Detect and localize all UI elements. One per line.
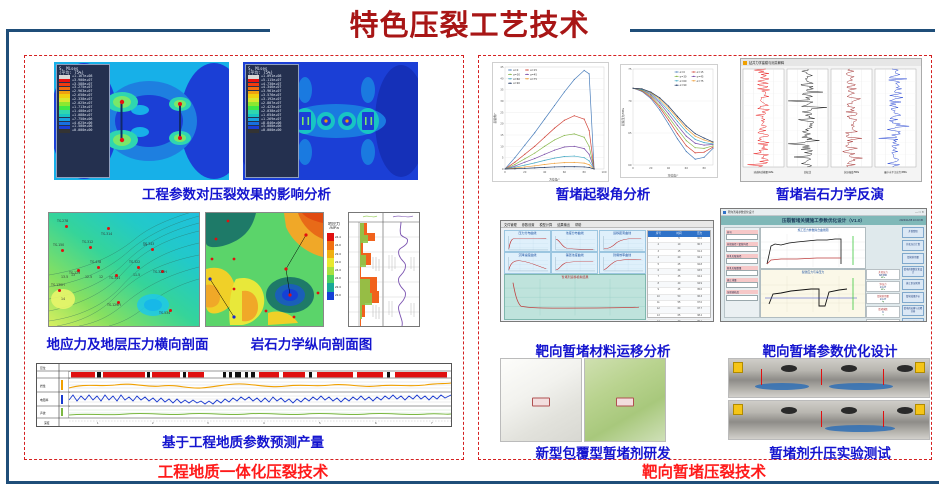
banner-timestamp: 2023/11/08 10:23:45	[899, 219, 923, 222]
field-input[interactable]	[726, 234, 758, 240]
table-cell: 69.1	[689, 320, 710, 322]
page-header: 特色压裂工艺技术	[0, 0, 939, 52]
well-label: TS-150	[53, 243, 64, 247]
photo-pipe-test-bottom	[728, 400, 930, 440]
field-input[interactable]	[726, 295, 758, 301]
svg-text:声波: 声波	[40, 411, 46, 415]
svg-text:α=60: α=60	[680, 79, 687, 83]
mini-plot: 运移距离曲线	[599, 230, 646, 252]
legend-colorbar	[327, 233, 334, 300]
table-body: 1560.021060.731561.442062.152562.863063.…	[648, 237, 710, 322]
svg-text:20: 20	[523, 170, 527, 174]
svg-text:65: 65	[628, 131, 632, 135]
action-button[interactable]: 施工泵压预测	[902, 279, 924, 290]
table-cell: 5	[669, 237, 690, 242]
svg-text:10: 10	[500, 144, 504, 148]
measurement-line	[821, 369, 822, 385]
menu-item[interactable]: 结果输出	[557, 222, 570, 227]
well-label: TS-130H	[51, 283, 65, 287]
legend-tick: 24.3	[335, 266, 341, 274]
fracture-stress-chart: 裂缝应力与净压力	[760, 269, 866, 318]
table-cell: 3	[648, 250, 669, 255]
measurement-line	[761, 369, 762, 385]
result-label: 升压幅度	[867, 320, 899, 322]
insitu-contour	[49, 213, 199, 326]
measurement-line	[883, 411, 884, 427]
table-cell: 61.4	[689, 250, 710, 255]
table-cell: 68.4	[689, 314, 710, 319]
field-input[interactable]	[726, 270, 758, 276]
svg-text:层位: 层位	[40, 366, 46, 370]
insitu-stress-map: TS-278 TS-314 TS-150 TS-312 TS-343 TS-12…	[48, 212, 200, 327]
fea-legend-a: S, Mises(平均: 75%)+1.167e+08+3.900e+07+3.…	[56, 64, 110, 178]
svg-text:20: 20	[500, 122, 504, 126]
measurement-line	[821, 411, 822, 427]
perforation-hole	[781, 365, 797, 372]
input-field-group[interactable]: 井筒直径 / 套管内径	[726, 242, 758, 253]
table-cell: 10	[669, 243, 690, 248]
initiation-angle-chart: 051015202530354045020406080100α=0α=15α=3…	[492, 62, 609, 182]
contour-value: 11.5	[133, 273, 140, 277]
mini-plot-svg	[552, 235, 597, 251]
table-cell: 64.9	[689, 282, 710, 287]
well-marker	[58, 289, 61, 292]
label-tag	[915, 362, 925, 373]
window-titlebar-text: 靶向暂堵参数优化设计	[728, 210, 754, 214]
table-cell: 60.7	[689, 243, 710, 248]
table-cell: 55	[669, 301, 690, 306]
mini-plot-svg	[600, 235, 645, 251]
initiation-angle-svg: 051015202530354045020406080100α=0α=15α=3…	[493, 63, 608, 181]
well-marker	[97, 266, 100, 269]
svg-text:方位角/°: 方位角/°	[549, 178, 560, 182]
input-field-group[interactable]: 射孔孔眼直径	[726, 254, 758, 265]
legend-tick: 24.0	[335, 241, 341, 249]
result-unit: kg	[867, 301, 899, 303]
table-cell: 2	[648, 243, 669, 248]
svg-text:100: 100	[602, 170, 607, 174]
contour-value: 11	[143, 243, 147, 247]
svg-text:α=30: α=30	[680, 74, 687, 78]
perforation-hole	[841, 365, 857, 372]
legend-swatch	[327, 267, 334, 275]
label-tag	[733, 362, 743, 373]
legend-swatch	[327, 283, 334, 291]
legend-tick: 23.3	[335, 250, 341, 258]
svg-text:α=45: α=45	[697, 74, 704, 78]
result-unit: 个	[867, 314, 899, 317]
result-cell: 升压幅度6.300MPa	[866, 319, 900, 322]
legend-row: +0.000e+00	[59, 129, 108, 133]
field-label: 射孔孔眼数量	[726, 266, 758, 270]
svg-text:α=15: α=15	[697, 70, 704, 74]
svg-text:75: 75	[628, 67, 632, 71]
action-button[interactable]: 暂堵剂用量	[902, 253, 924, 264]
table-cell: 60.0	[689, 237, 710, 242]
menu-item[interactable]: 帮助	[575, 222, 581, 227]
fea-stress-simulation-a: S, Mises(平均: 75%)+1.167e+08+3.900e+07+3.…	[54, 62, 229, 180]
mini-plot-svg	[505, 256, 550, 272]
table-row[interactable]: 147069.1	[648, 320, 710, 322]
perforation-hole	[897, 365, 913, 372]
well-label: TS-314	[101, 232, 112, 236]
mini-plot-svg	[600, 256, 645, 272]
result-cell: 暂堵剂用量13.27kg	[866, 293, 900, 304]
svg-text:30: 30	[500, 99, 504, 103]
mini-plot-svg	[552, 256, 597, 272]
caption-panel-left: 工程地质一体化压裂技术	[24, 460, 462, 482]
caption-production-prediction: 基于工程地质参数预测产量	[36, 431, 450, 451]
transport-main-plot: 暂堵剂运移模拟结果	[504, 274, 646, 320]
svg-text:α=15: α=15	[530, 68, 537, 72]
perforation-hole	[841, 407, 857, 414]
well-label: TS-341	[109, 276, 120, 280]
field-label: 施工排量	[726, 278, 758, 282]
table-cell: 64.2	[689, 275, 710, 280]
input-parameter-pane[interactable]: 井号井筒直径 / 套管内径射孔孔眼直径射孔孔眼数量施工排量压裂液粘度	[724, 227, 760, 318]
svg-text:25: 25	[500, 110, 504, 114]
main-plot-svg	[505, 279, 645, 319]
table-cell: 20	[669, 256, 690, 261]
svg-text:40: 40	[500, 76, 504, 80]
legend-tick: 24.4	[335, 233, 341, 241]
mini-plot: 压力分布曲线	[504, 230, 551, 252]
svg-text:泊松比: 泊松比	[804, 170, 812, 174]
table-cell: 60	[669, 307, 690, 312]
pressure-fit-chart: 施工压力参数拟合曲线图	[760, 227, 866, 269]
svg-text:60: 60	[685, 166, 689, 170]
mini-plot: 浓度分布曲线	[551, 230, 598, 252]
result-unit: MPa	[867, 289, 899, 291]
svg-text:20: 20	[649, 166, 653, 170]
rock-mechanics-section-map	[205, 212, 324, 327]
svg-text:起裂压力/MPa: 起裂压力/MPa	[621, 108, 625, 126]
annotation-ellipse	[755, 383, 809, 390]
result-cell: 净压力13.27MPa	[866, 281, 900, 292]
contour-value: 13.5	[61, 275, 68, 279]
svg-text:α=75: α=75	[530, 77, 537, 81]
photo-green-diverter-bag	[584, 358, 666, 442]
svg-text:方位角/°: 方位角/°	[668, 174, 679, 178]
input-field-group[interactable]: 井号	[726, 230, 758, 241]
legend-tick: 23.0	[335, 291, 341, 299]
action-button-column[interactable]: 井筒摩阻井底压力计算暂堵剂用量暂堵剂参数优化设计施工泵压预测暂堵效果评价暂堵剂运…	[902, 227, 924, 318]
field-input[interactable]	[726, 282, 758, 288]
field-input[interactable]	[726, 246, 758, 252]
diverter-optimization-software: 靶向暂堵参数优化设计 — □ ✕ 压裂暂堵关键施工参数优化设计（V1.0） 20…	[720, 208, 927, 322]
software-menubar[interactable]: 文件管理 参数设置 模型计算 结果输出 帮助	[501, 221, 713, 228]
production-log-svg: 123 456 7 层位岩性 电阻率声波 深度	[37, 364, 451, 426]
log-strip-svg	[349, 213, 419, 326]
pressure-fit-svg	[761, 234, 865, 267]
result-cells: 井底压力68.580MPa净压力13.27MPa暂堵剂用量13.27kg暂堵球数…	[866, 269, 900, 318]
result-unit: MPa	[867, 277, 899, 279]
svg-text:电阻率: 电阻率	[40, 398, 49, 402]
svg-text:抗压强度/MPa: 抗压强度/MPa	[844, 170, 860, 174]
legend-swatch	[327, 292, 334, 300]
legend-swatch	[327, 241, 334, 249]
table-cell: 63.5	[689, 269, 710, 274]
mini-plot-svg	[505, 235, 550, 251]
legend-ticks: 24.424.023.323.024.324.023.323.0	[335, 233, 341, 300]
legend-tick: 23.3	[335, 283, 341, 291]
field-input[interactable]	[726, 258, 758, 264]
table-cell: 62.1	[689, 256, 710, 261]
chart-title: 裂缝应力与净压力	[761, 270, 865, 274]
well-marker	[89, 246, 92, 249]
svg-text:80: 80	[583, 170, 587, 174]
fea-stress-simulation-b: S, Mises(平均: 75%)+1.091e+08+5.115e+07+4.…	[243, 62, 418, 180]
mini-plot: 沉降速度曲线	[504, 252, 551, 274]
action-button[interactable]: 暂堵剂运移与沉降分析	[902, 305, 924, 316]
input-field-group[interactable]: 射孔孔眼数量	[726, 266, 758, 277]
measurement-line	[883, 369, 884, 385]
caption-diverter-optimization: 靶向暂堵参数优化设计	[730, 340, 930, 360]
photo-pipe-test-top	[728, 358, 930, 398]
action-button[interactable]: 井筒摩阻	[902, 227, 924, 238]
well-marker	[65, 225, 68, 228]
well-label: TS-322	[129, 260, 140, 264]
caption-panel-right: 靶向暂堵压裂技术	[478, 460, 930, 482]
table-cell: 70	[669, 320, 690, 322]
table-cell: 15	[669, 250, 690, 255]
legend-swatch	[327, 258, 334, 266]
plot-grid: 压力分布曲线浓度分布曲线运移距离曲线沉降速度曲线铺置浓度曲线封堵效率曲线	[504, 230, 644, 272]
contour-value: 12	[99, 275, 103, 279]
table-cell: 10	[648, 295, 669, 300]
log-tracks-svg: 动态杨氏模量/GPa泊松比抗压强度/MPa最小水平主应力/MPa	[741, 66, 921, 181]
legend-swatch	[327, 233, 334, 241]
table-cell: 12	[648, 307, 669, 312]
svg-text:40: 40	[667, 166, 671, 170]
table-cell: 11	[648, 301, 669, 306]
rock-contour	[206, 213, 323, 326]
action-button[interactable]: 结果输出	[902, 318, 924, 322]
legend-swatch	[248, 129, 259, 133]
action-button[interactable]: 暂堵剂参数优化设计	[902, 266, 924, 277]
well-marker	[107, 227, 110, 230]
caption-fea-stress-simulation: 工程参数对压裂效果的影响分析	[54, 183, 419, 203]
svg-text:α=90: α=90	[513, 81, 520, 85]
table-cell: 40	[669, 282, 690, 287]
table-cell: 9	[648, 288, 669, 293]
legend-swatch	[327, 275, 334, 283]
initiation-pressure-svg: 60657075020406080α=0α=15α=30α=45α=60α=75…	[621, 65, 717, 177]
field-label: 井号	[726, 230, 758, 234]
legend-row: +0.000e+00	[248, 129, 297, 133]
svg-text:60: 60	[563, 170, 567, 174]
annotation-ellipse	[825, 425, 895, 432]
table-cell: 30	[669, 269, 690, 274]
svg-text:α=0: α=0	[680, 70, 686, 74]
window-controls[interactable]: — □ ✕	[915, 210, 926, 214]
table-cell: 66.3	[689, 295, 710, 300]
photo-white-diverter-bag	[500, 358, 582, 442]
action-button[interactable]: 暂堵效果评价	[902, 292, 924, 303]
table-cell: 6	[648, 269, 669, 274]
app-icon	[743, 61, 747, 65]
mini-plot: 铺置浓度曲线	[551, 252, 598, 274]
well-marker	[137, 266, 140, 269]
contour-value: 12.5	[85, 275, 92, 279]
table-cell: 35	[669, 275, 690, 280]
legend-swatch	[59, 129, 70, 133]
table-cell: 45	[669, 288, 690, 293]
well-marker	[61, 249, 64, 252]
inversion-window-title: 钻井力学建模与测井解释	[749, 60, 784, 65]
legend-tick: 24.0	[335, 274, 341, 282]
result-cell: 井底压力68.580MPa	[866, 269, 900, 280]
production-prediction-log: 123 456 7 层位岩性 电阻率声波 深度	[36, 363, 452, 427]
well-label: TS-312	[82, 240, 93, 244]
well-label: TS-129H	[107, 303, 121, 307]
caption-rock-mechanics-section: 岩石力学纵向剖面图	[224, 333, 399, 353]
table-cell: 13	[648, 314, 669, 319]
bag-label-sticker	[532, 397, 550, 406]
caption-diverter-transport: 靶向暂堵材料运移分析	[484, 340, 722, 360]
field-label: 井筒直径 / 套管内径	[726, 242, 758, 246]
svg-text:α=75: α=75	[697, 79, 704, 83]
svg-text:α=0: α=0	[513, 68, 519, 72]
legend-value: +0.000e+00	[261, 129, 281, 133]
diverter-transport-software: 文件管理 参数设置 模型计算 结果输出 帮助 压力分布曲线浓度分布曲线运移距离曲…	[500, 220, 714, 322]
svg-text:α=30: α=30	[513, 72, 520, 76]
caption-insitu-stress-map: 地应力及地层压力横向剖面	[40, 333, 215, 353]
rock-mechanics-log-strip	[348, 212, 420, 327]
initiation-pressure-chart: 60657075020406080α=0α=15α=30α=45α=60α=75…	[620, 64, 718, 178]
svg-text:70: 70	[628, 99, 632, 103]
frame-left-line	[6, 29, 9, 481]
table-cell: 67.7	[689, 307, 710, 312]
table-cell: 7	[648, 275, 669, 280]
input-field-group[interactable]: 压裂液粘度	[726, 290, 758, 301]
software-banner-title: 压裂暂堵关键施工参数优化设计（V1.0）	[782, 218, 865, 224]
legend-swatch	[327, 250, 334, 258]
field-label: 射孔孔眼直径	[726, 254, 758, 258]
svg-text:动态杨氏模量/GPa: 动态杨氏模量/GPa	[754, 170, 774, 174]
label-tag	[915, 404, 925, 415]
label-tag	[733, 404, 743, 415]
mini-plot: 封堵效率曲线	[599, 252, 646, 274]
well-marker	[151, 248, 154, 251]
svg-text:α=45: α=45	[530, 72, 537, 76]
result-table[interactable]: 序号 时间 压力 1560.021060.731561.442062.15256…	[647, 230, 711, 318]
action-button[interactable]: 井底压力计算	[902, 240, 924, 251]
svg-text:15: 15	[500, 133, 504, 137]
table-cell: 14	[648, 320, 669, 322]
menu-item[interactable]: 文件管理	[504, 222, 517, 227]
svg-text:45: 45	[500, 65, 504, 69]
table-cell: 1	[648, 237, 669, 242]
table-cell: 5	[648, 263, 669, 268]
caption-coated-diverter: 新型包覆型暂堵剂研发	[484, 442, 722, 462]
input-field-group[interactable]: 施工排量	[726, 278, 758, 289]
bag-label-sticker	[616, 397, 634, 406]
svg-text:40: 40	[543, 170, 547, 174]
caption-rock-mechanics-inversion: 暂堵岩石力学反演	[730, 183, 930, 203]
svg-text:80: 80	[702, 166, 706, 170]
rock-mechanics-legend: 地应力 /MPa 24.424.023.323.024.324.023.323.…	[324, 222, 344, 300]
well-label: TS-322H	[153, 270, 167, 274]
fracture-stress-svg	[761, 276, 865, 312]
contour-value: 13	[71, 273, 75, 277]
table-cell: 62.8	[689, 263, 710, 268]
contour-value: 14	[61, 297, 65, 301]
well-label: TS-478	[90, 260, 101, 264]
chart-title: 施工压力参数拟合曲线图	[761, 228, 865, 232]
rock-mechanics-inversion-window: 钻井力学建模与测井解释 动态杨氏模量/GPa泊松比抗压强度/MPa最小水平主应力…	[740, 58, 922, 182]
svg-text:α=60: α=60	[513, 77, 520, 81]
table-cell: 50	[669, 295, 690, 300]
table-cell: 65	[669, 314, 690, 319]
table-cell: 67.0	[689, 301, 710, 306]
menu-item[interactable]: 模型计算	[540, 222, 553, 227]
table-cell: 65.6	[689, 288, 710, 293]
svg-text:最小水平主应力/MPa: 最小水平主应力/MPa	[884, 170, 907, 174]
caption-diverter-pressure-test: 暂堵剂升压实验测试	[730, 442, 930, 462]
svg-text:岩性: 岩性	[40, 384, 46, 388]
menu-item[interactable]: 参数设置	[522, 222, 535, 227]
field-label: 压裂液粘度	[726, 290, 758, 294]
svg-text:深度: 深度	[44, 421, 50, 425]
legend-value: +0.000e+00	[72, 129, 92, 133]
well-label: TS-534	[159, 311, 170, 315]
caption-initiation-angle: 暂堵起裂角分析	[484, 183, 722, 203]
legend-unit: /MPa	[324, 226, 344, 230]
software-banner: 压裂暂堵关键施工参数优化设计（V1.0） 2023/11/08 10:23:45	[721, 216, 926, 225]
svg-text:起裂角/°: 起裂角/°	[493, 112, 497, 123]
table-cell: 8	[648, 282, 669, 287]
app-icon	[723, 211, 726, 214]
perforation-hole	[781, 407, 797, 414]
legend-tick: 23.0	[335, 258, 341, 266]
svg-text:35: 35	[500, 88, 504, 92]
fea-legend-b: S, Mises(平均: 75%)+1.091e+08+5.115e+07+4.…	[245, 64, 299, 178]
result-cell: 暂堵球数6个	[866, 306, 900, 318]
page-title: 特色压裂工艺技术	[0, 2, 939, 44]
perforation-hole	[897, 407, 913, 414]
svg-text:α=90: α=90	[680, 83, 687, 87]
well-label: TS-278	[57, 219, 68, 223]
table-cell: 4	[648, 256, 669, 261]
table-cell: 25	[669, 263, 690, 268]
